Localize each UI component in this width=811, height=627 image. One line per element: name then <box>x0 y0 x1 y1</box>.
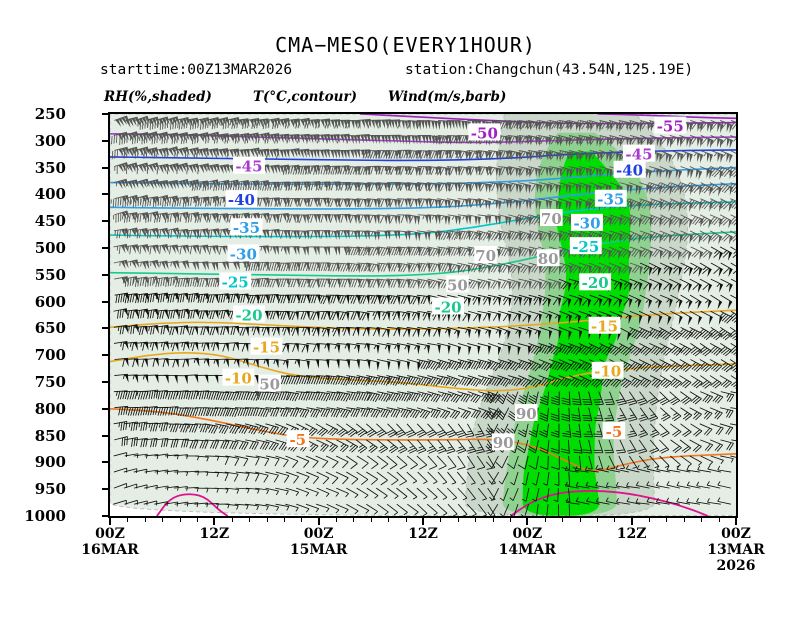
x-tick-major <box>631 518 633 525</box>
x-tick-minor <box>510 518 511 522</box>
starttime-label: starttime:00Z13MAR2026 <box>100 62 292 78</box>
y-tick <box>102 488 109 490</box>
contour-label: 90 <box>516 405 537 423</box>
contour-label: -20 <box>582 274 609 292</box>
contour-label: 70 <box>541 210 562 228</box>
contour-label: 70 <box>475 247 496 265</box>
y-tick <box>102 327 109 329</box>
x-tick-minor <box>406 518 407 522</box>
x-tick-major <box>213 518 215 525</box>
y-tick <box>102 220 109 222</box>
contour-label: 80 <box>538 250 559 268</box>
contour-label: -40 <box>616 162 643 180</box>
x-tick-minor <box>545 518 546 522</box>
contour-label: -30 <box>573 215 600 233</box>
x-axis-label: 12Z <box>378 526 468 542</box>
contour-label: -15 <box>591 318 618 336</box>
y-axis-label: 250 <box>6 105 66 123</box>
x-tick-minor <box>580 518 581 522</box>
y-tick <box>102 247 109 249</box>
x-tick-minor <box>127 518 128 522</box>
x-tick-minor <box>719 518 720 522</box>
y-axis-label: 1000 <box>6 507 66 525</box>
y-axis-label: 750 <box>6 373 66 391</box>
y-tick <box>102 354 109 356</box>
y-axis-label: 600 <box>6 293 66 311</box>
contour-label: -15 <box>253 339 280 357</box>
x-tick-minor <box>353 518 354 522</box>
y-axis-label: 300 <box>6 132 66 150</box>
x-tick-minor <box>249 518 250 522</box>
x-axis-label: 00Z13MAR2026 <box>691 526 781 574</box>
x-tick-minor <box>666 518 667 522</box>
x-tick-minor <box>562 518 563 522</box>
x-tick-minor <box>180 518 181 522</box>
x-axis-label: 12Z <box>587 526 677 542</box>
y-axis-label: 700 <box>6 346 66 364</box>
y-tick <box>102 408 109 410</box>
legend-rh: RH(%,shaded) <box>104 89 212 105</box>
y-tick <box>102 140 109 142</box>
x-tick-minor <box>388 518 389 522</box>
x-tick-minor <box>371 518 372 522</box>
y-axis-label: 400 <box>6 185 66 203</box>
contour-label: -10 <box>594 363 621 381</box>
x-axis-label: 12Z <box>169 526 259 542</box>
y-tick <box>102 167 109 169</box>
x-tick-minor <box>701 518 702 522</box>
x-tick-minor <box>458 518 459 522</box>
contour-label: 50 <box>447 276 468 294</box>
x-tick-major <box>422 518 424 525</box>
x-tick-minor <box>597 518 598 522</box>
y-tick <box>102 515 109 517</box>
contour-label: -20 <box>434 298 461 316</box>
y-axis-label: 800 <box>6 400 66 418</box>
x-tick-major <box>526 518 528 525</box>
contour-label: 90 <box>493 434 514 452</box>
contour-label: -25 <box>572 238 599 256</box>
y-axis-label: 550 <box>6 266 66 284</box>
y-tick <box>102 461 109 463</box>
y-tick <box>102 193 109 195</box>
x-tick-minor <box>684 518 685 522</box>
contour-label: -25 <box>222 273 249 291</box>
x-axis-label: 00Z14MAR <box>482 526 572 558</box>
contour-label: -40 <box>228 191 255 209</box>
y-axis-label: 650 <box>6 319 66 337</box>
contour-label: -5 <box>606 423 623 441</box>
page-title: CMA−MESO(EVERY1HOUR) <box>0 33 811 57</box>
x-tick-minor <box>336 518 337 522</box>
x-tick-minor <box>267 518 268 522</box>
contour-label: -45 <box>235 158 262 176</box>
legend: RH(%,shaded) T(°C,contour) Wind(m/s,barb… <box>0 89 811 107</box>
x-tick-minor <box>162 518 163 522</box>
contour-label: -5 <box>289 431 306 449</box>
x-tick-minor <box>649 518 650 522</box>
chart-page: CMA−MESO(EVERY1HOUR) starttime:00Z13MAR2… <box>0 0 811 627</box>
contour-label: -20 <box>235 306 262 324</box>
contour-label: 50 <box>259 376 280 394</box>
x-tick-minor <box>440 518 441 522</box>
x-tick-minor <box>301 518 302 522</box>
contour-label: -35 <box>597 191 624 209</box>
x-tick-minor <box>475 518 476 522</box>
x-tick-minor <box>614 518 615 522</box>
y-axis-label: 500 <box>6 239 66 257</box>
x-axis-label: 00Z16MAR <box>65 526 155 558</box>
rh-shade-90 <box>546 500 563 516</box>
contour-label: -55 <box>657 117 684 135</box>
y-axis-label: 850 <box>6 427 66 445</box>
y-axis-label: 350 <box>6 159 66 177</box>
x-tick-major <box>109 518 111 525</box>
x-tick-minor <box>493 518 494 522</box>
x-axis-label: 00Z15MAR <box>274 526 364 558</box>
legend-wind: Wind(m/s,barb) <box>388 89 506 105</box>
x-tick-major <box>318 518 320 525</box>
contour-label: -30 <box>230 245 257 263</box>
legend-temperature: T(°C,contour) <box>253 89 357 105</box>
time-height-cross-section: 70708050509090-55-50-45-45-40-40-35-35-3… <box>110 114 736 516</box>
y-tick <box>102 301 109 303</box>
contour-label: -50 <box>471 124 498 142</box>
x-tick-minor <box>232 518 233 522</box>
station-label: station:Changchun(43.54N,125.19E) <box>405 62 693 78</box>
contour-label: -10 <box>225 370 252 388</box>
y-axis-label: 900 <box>6 453 66 471</box>
y-tick <box>102 381 109 383</box>
x-tick-minor <box>197 518 198 522</box>
y-tick <box>102 274 109 276</box>
plot-area: 70708050509090-55-50-45-45-40-40-35-35-3… <box>108 112 738 518</box>
x-tick-major <box>735 518 737 525</box>
x-tick-minor <box>145 518 146 522</box>
y-tick <box>102 113 109 115</box>
y-tick <box>102 435 109 437</box>
y-axis-label: 950 <box>6 480 66 498</box>
y-axis-label: 450 <box>6 212 66 230</box>
contour-label: -35 <box>233 219 260 237</box>
x-tick-minor <box>284 518 285 522</box>
